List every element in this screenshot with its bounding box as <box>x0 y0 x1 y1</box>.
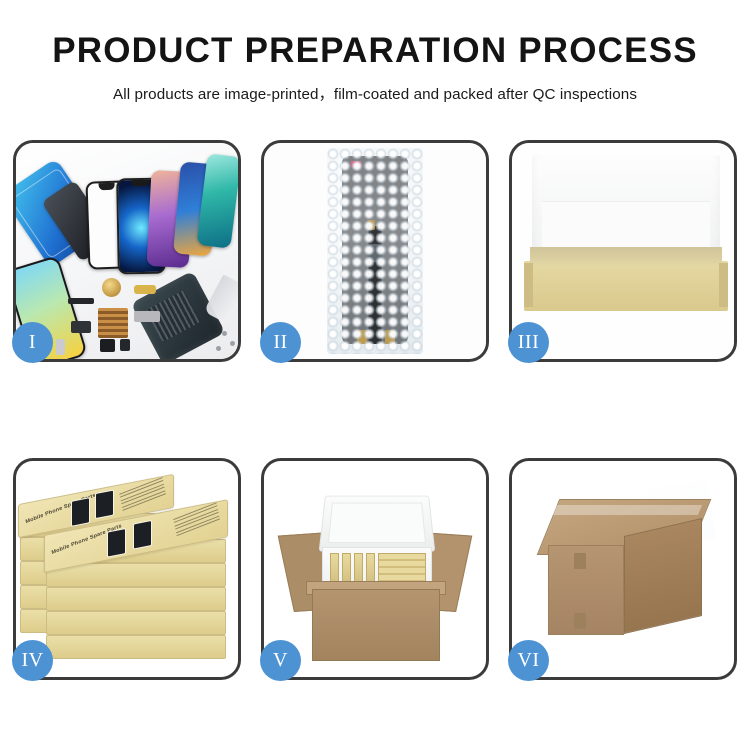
carton-side-face <box>624 518 702 634</box>
process-step-card-3: III <box>509 140 737 362</box>
step-badge-1: I <box>12 322 53 363</box>
step-badge-2: II <box>260 322 301 363</box>
box-spec-lines <box>173 502 220 540</box>
stacked-box <box>46 635 226 659</box>
box-artwork-screen-icon <box>107 528 126 558</box>
stacked-box <box>46 587 226 611</box>
box-right-lip <box>719 263 728 307</box>
process-step-card-5: V <box>261 458 489 680</box>
camera-module-icon <box>120 339 130 351</box>
process-step-card-6: VI <box>509 458 737 680</box>
flex-cable-c-icon <box>134 311 160 322</box>
step-1-image <box>16 143 238 359</box>
flex-cable-icon <box>134 285 156 294</box>
step-5-image <box>264 461 486 677</box>
box-artwork-screen-icon <box>133 520 152 550</box>
speaker-coil-icon <box>102 278 121 297</box>
screw-tray-icon <box>98 308 128 338</box>
step-6-image <box>512 461 734 677</box>
packing-tape-icon <box>546 505 702 515</box>
bubble-wrap-bag <box>327 148 423 354</box>
process-step-card-4: Mobile Phone Spare Parts Mobile Phone Sp… <box>13 458 241 680</box>
box-artwork-screen-icon <box>71 497 90 527</box>
foam-lid-icon <box>319 496 436 552</box>
box-left-lip <box>524 263 533 307</box>
loudspeaker-icon <box>100 339 115 352</box>
screw-icon <box>216 346 221 351</box>
screw-icon <box>222 331 227 336</box>
carton-tab <box>574 613 586 629</box>
carton-front-face <box>548 545 624 635</box>
step-badge-6: VI <box>508 640 549 681</box>
box-artwork-screen-icon <box>95 490 114 520</box>
step-3-image <box>512 143 734 359</box>
process-step-grid: I II <box>13 140 737 680</box>
process-step-card-2: II <box>261 140 489 362</box>
carton-body <box>312 589 440 661</box>
step-badge-5: V <box>260 640 301 681</box>
header: PRODUCT PREPARATION PROCESS All products… <box>0 0 750 104</box>
box-spec-lines <box>119 477 166 515</box>
stacked-box <box>46 611 226 635</box>
yellow-inner-box-icon <box>524 261 728 311</box>
bubble-texture <box>327 148 423 354</box>
page-title: PRODUCT PREPARATION PROCESS <box>0 32 750 71</box>
screw-icon <box>230 341 235 346</box>
process-step-card-1: I <box>13 140 241 362</box>
step-2-image <box>264 143 486 359</box>
earpiece-mesh-icon <box>68 298 94 304</box>
page-subtitle: All products are image-printed，film-coat… <box>0 82 750 104</box>
box-stack: Mobile Phone Spare Parts Mobile Phone Sp… <box>16 461 238 677</box>
step-4-image: Mobile Phone Spare Parts Mobile Phone Sp… <box>16 461 238 677</box>
sim-tray-icon <box>56 339 65 355</box>
step-badge-4: IV <box>12 640 53 681</box>
flex-cable-b-icon <box>71 321 91 333</box>
carton-tab <box>574 553 586 569</box>
step-badge-3: III <box>508 322 549 363</box>
product-preparation-infographic: PRODUCT PREPARATION PROCESS All products… <box>0 0 750 750</box>
